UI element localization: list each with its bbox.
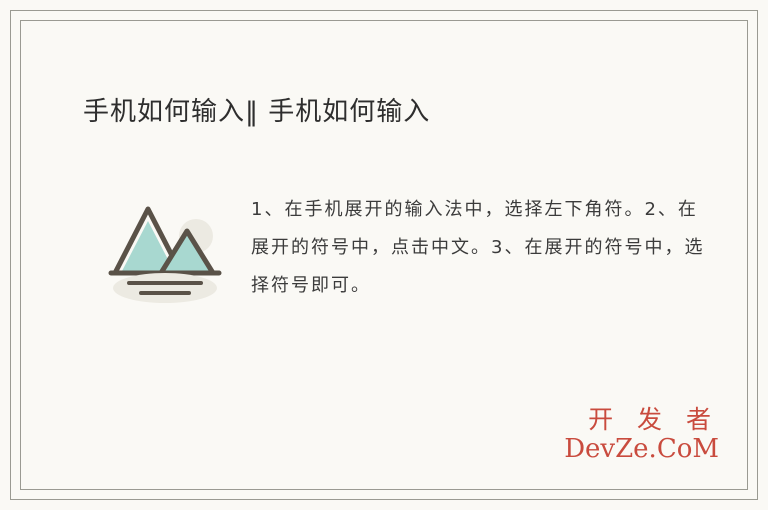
article-body: 1、在手机展开的输入法中，选择左下角符。2、在展开的符号中，点击中文。3、在展开…: [251, 191, 711, 305]
page-title: 手机如何输入‖ 手机如何输入: [83, 91, 430, 128]
content-area: 手机如何输入‖ 手机如何输入: [41, 41, 727, 469]
watermark-line-2: DevZe.CoM: [564, 436, 719, 463]
inner-border: 手机如何输入‖ 手机如何输入: [20, 20, 748, 490]
watermark-line-1: 开 发 者: [564, 407, 719, 433]
mountain-landscape-icon: [101, 181, 231, 311]
page-root: 手机如何输入‖ 手机如何输入: [0, 0, 768, 510]
watermark: 开 发 者 DevZe.CoM: [564, 407, 719, 463]
